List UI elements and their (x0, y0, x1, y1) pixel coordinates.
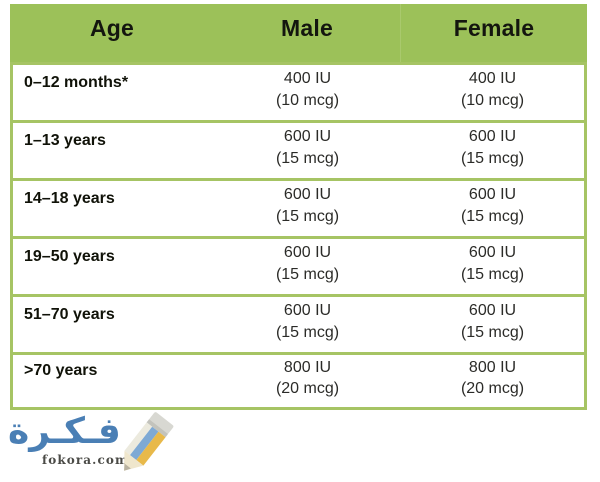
female-value-mcg: (15 mcg) (401, 206, 584, 227)
age-label: >70 years (24, 362, 214, 380)
vitamin-d-intake-table: Age Male Female 0–12 months* 400 IU (1 (10, 4, 587, 410)
cell-female-value: 600 IU (15 mcg) (401, 236, 587, 294)
cell-female-value: 600 IU (15 mcg) (401, 120, 587, 178)
female-value-stack: 600 IU (15 mcg) (401, 300, 584, 343)
age-label: 1–13 years (24, 132, 214, 150)
male-value-stack: 600 IU (15 mcg) (214, 184, 401, 227)
male-value-mcg: (15 mcg) (214, 148, 401, 169)
table-body: 0–12 months* 400 IU (10 mcg) 400 IU (10 … (10, 62, 587, 410)
cell-male-value: 400 IU (10 mcg) (214, 62, 401, 120)
female-value-mcg: (15 mcg) (401, 264, 584, 285)
male-value-iu: 400 IU (284, 70, 331, 87)
column-header-male-label: Male (214, 15, 400, 42)
cell-female-value: 800 IU (20 mcg) (401, 352, 587, 410)
cell-age: 19–50 years (10, 236, 214, 294)
cell-age: 14–18 years (10, 178, 214, 236)
header-row: Age Male Female (10, 4, 587, 62)
cell-female-value: 400 IU (10 mcg) (401, 62, 587, 120)
table-header: Age Male Female (10, 4, 587, 62)
table-row: 0–12 months* 400 IU (10 mcg) 400 IU (10 … (10, 62, 587, 120)
female-value-iu: 800 IU (469, 359, 516, 376)
age-label: 51–70 years (24, 306, 214, 324)
cell-female-value: 600 IU (15 mcg) (401, 294, 587, 352)
male-value-stack: 400 IU (10 mcg) (214, 68, 401, 111)
male-value-mcg: (15 mcg) (214, 322, 401, 343)
male-value-stack: 600 IU (15 mcg) (214, 300, 401, 343)
male-value-iu: 600 IU (284, 244, 331, 261)
column-header-female-label: Female (401, 15, 587, 42)
male-value-stack: 600 IU (15 mcg) (214, 242, 401, 285)
male-value-mcg: (20 mcg) (214, 378, 401, 399)
female-value-mcg: (15 mcg) (401, 322, 584, 343)
table-row: 51–70 years 600 IU (15 mcg) 600 IU (15 m… (10, 294, 587, 352)
cell-age: 1–13 years (10, 120, 214, 178)
cell-age: 0–12 months* (10, 62, 214, 120)
age-label: 19–50 years (24, 248, 214, 266)
female-value-iu: 600 IU (469, 186, 516, 203)
male-value-iu: 600 IU (284, 186, 331, 203)
cell-male-value: 600 IU (15 mcg) (214, 294, 401, 352)
age-label: 0–12 months* (24, 74, 214, 92)
female-value-stack: 600 IU (15 mcg) (401, 184, 584, 227)
female-value-mcg: (20 mcg) (401, 378, 584, 399)
male-value-iu: 600 IU (284, 302, 331, 319)
male-value-mcg: (15 mcg) (214, 264, 401, 285)
female-value-iu: 400 IU (469, 70, 516, 87)
column-header-male: Male (214, 4, 401, 62)
column-header-age-label: Age (10, 15, 214, 42)
female-value-iu: 600 IU (469, 302, 516, 319)
female-value-stack: 800 IU (20 mcg) (401, 357, 584, 400)
female-value-iu: 600 IU (469, 128, 516, 145)
female-value-stack: 400 IU (10 mcg) (401, 68, 584, 111)
male-value-iu: 800 IU (284, 359, 331, 376)
male-value-iu: 600 IU (284, 128, 331, 145)
female-value-mcg: (10 mcg) (401, 90, 584, 111)
cell-male-value: 600 IU (15 mcg) (214, 236, 401, 294)
cell-male-value: 600 IU (15 mcg) (214, 178, 401, 236)
cell-male-value: 600 IU (15 mcg) (214, 120, 401, 178)
male-value-stack: 800 IU (20 mcg) (214, 357, 401, 400)
table-row: 1–13 years 600 IU (15 mcg) 600 IU (15 mc… (10, 120, 587, 178)
cell-male-value: 800 IU (20 mcg) (214, 352, 401, 410)
vitamin-d-intake-table-container: Age Male Female 0–12 months* 400 IU (1 (10, 4, 586, 474)
age-label: 14–18 years (24, 190, 214, 208)
column-header-female: Female (401, 4, 587, 62)
female-value-iu: 600 IU (469, 244, 516, 261)
table-row: 14–18 years 600 IU (15 mcg) 600 IU (15 m… (10, 178, 587, 236)
male-value-mcg: (10 mcg) (214, 90, 401, 111)
female-value-stack: 600 IU (15 mcg) (401, 242, 584, 285)
column-header-age: Age (10, 4, 214, 62)
table-row: 19–50 years 600 IU (15 mcg) 600 IU (15 m… (10, 236, 587, 294)
male-value-stack: 600 IU (15 mcg) (214, 126, 401, 169)
female-value-stack: 600 IU (15 mcg) (401, 126, 584, 169)
female-value-mcg: (15 mcg) (401, 148, 584, 169)
cell-female-value: 600 IU (15 mcg) (401, 178, 587, 236)
male-value-mcg: (15 mcg) (214, 206, 401, 227)
table-row: >70 years 800 IU (20 mcg) 800 IU (20 mcg… (10, 352, 587, 410)
cell-age: >70 years (10, 352, 214, 410)
cell-age: 51–70 years (10, 294, 214, 352)
